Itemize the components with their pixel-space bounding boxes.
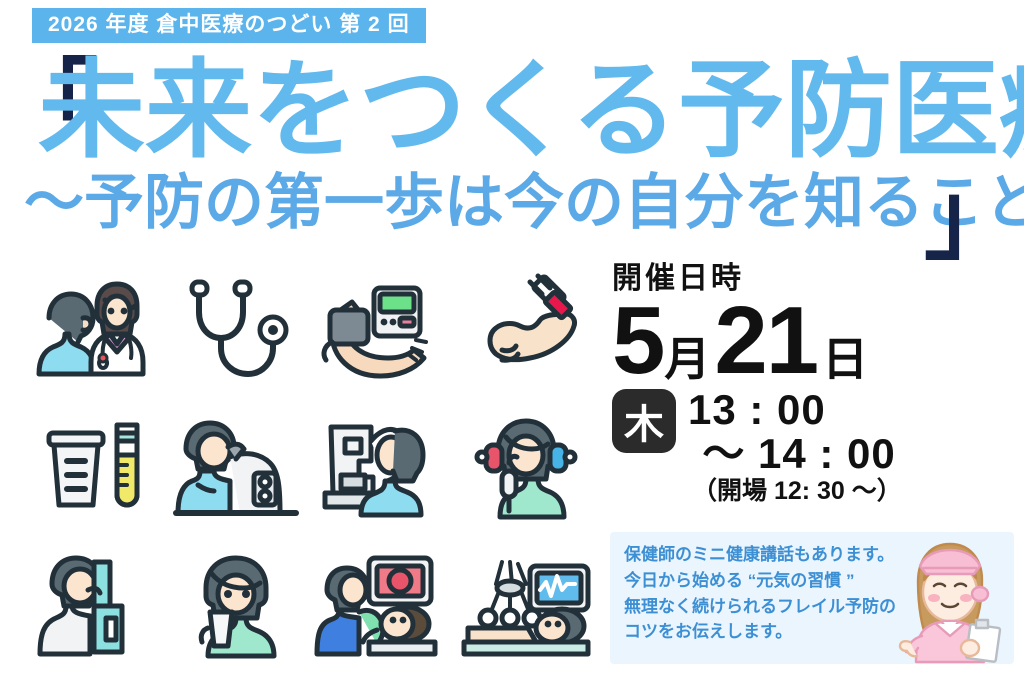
event-time-column: 13 : 00 〜 14 : 00 （開場 12: 30 〜） <box>688 389 902 504</box>
icon-cell-urine-sample <box>18 397 163 536</box>
close-bracket-mark: 」 <box>924 170 1020 266</box>
doctor-patient-consultation-icon <box>27 272 155 384</box>
event-date-row: 5 月 21 日 <box>612 297 1012 385</box>
icon-cell-barium-drink <box>163 537 308 676</box>
event-time-end: 〜 14 : 00 <box>688 433 902 475</box>
icon-cell-hearing-test <box>453 397 598 536</box>
page-title: 未来をつくる予防医療 <box>38 54 1024 166</box>
icon-cell-doctor-patient <box>18 258 163 397</box>
event-time-row: 木 13 : 00 〜 14 : 00 （開場 12: 30 〜） <box>612 389 1012 504</box>
barium-drink-icon <box>176 550 296 662</box>
title-block: 「 未来をつくる予防医療 〜予防の第一歩は今の自分を知ること〜 」 <box>0 52 1024 242</box>
event-day-number: 21 <box>714 297 817 385</box>
blood-draw-syringe-icon <box>468 272 584 384</box>
event-day-unit: 日 <box>822 338 868 385</box>
hearing-test-headphones-icon <box>466 411 586 523</box>
weekday-badge: 木 <box>612 389 676 453</box>
event-datetime-block: 開催日時 5 月 21 日 木 13 : 00 〜 14 : 00 （開場 12… <box>612 262 1012 504</box>
icon-cell-eye-exam <box>308 397 453 536</box>
icon-cell-blood-pressure <box>308 258 453 397</box>
stethoscope-icon <box>177 272 295 384</box>
event-month-number: 5 <box>612 297 663 385</box>
icon-cell-ecg-monitor <box>453 537 598 676</box>
blood-pressure-monitor-icon <box>316 272 446 384</box>
eye-exam-machine-icon <box>315 411 447 523</box>
event-doors-open: （開場 12: 30 〜） <box>688 479 902 504</box>
nurse-pointing-with-clipboard-icon <box>884 538 1012 664</box>
icon-cell-chest-xray <box>18 537 163 676</box>
icon-cell-stethoscope <box>163 258 308 397</box>
ecg-monitor-exam-icon <box>456 550 596 662</box>
icon-cell-blood-draw <box>453 258 598 397</box>
event-series-ribbon: 2026 年度 倉中医療のつどい 第 2 回 <box>32 8 426 43</box>
chest-xray-icon <box>28 550 154 662</box>
health-talk-note-box: 保健師のミニ健康講話もあります。 今日から始める “元気の習慣 ” 無理なく続け… <box>610 532 1014 664</box>
event-month-unit: 月 <box>664 338 710 385</box>
icon-cell-ultrasound-exam <box>308 537 453 676</box>
urine-sample-cup-testtube-icon <box>35 411 147 523</box>
medical-checkup-icon-grid <box>18 258 598 676</box>
page-subtitle: 〜予防の第一歩は今の自分を知ること〜 <box>24 170 994 236</box>
event-time-start: 13 : 00 <box>688 389 902 431</box>
poster-root: 2026 年度 倉中医療のつどい 第 2 回 「 未来をつくる予防医療 〜予防の… <box>0 0 1024 681</box>
icon-cell-body-measurement <box>163 397 308 536</box>
body-measurement-machine-icon <box>170 411 302 523</box>
ultrasound-endoscopy-exam-icon <box>311 550 451 662</box>
